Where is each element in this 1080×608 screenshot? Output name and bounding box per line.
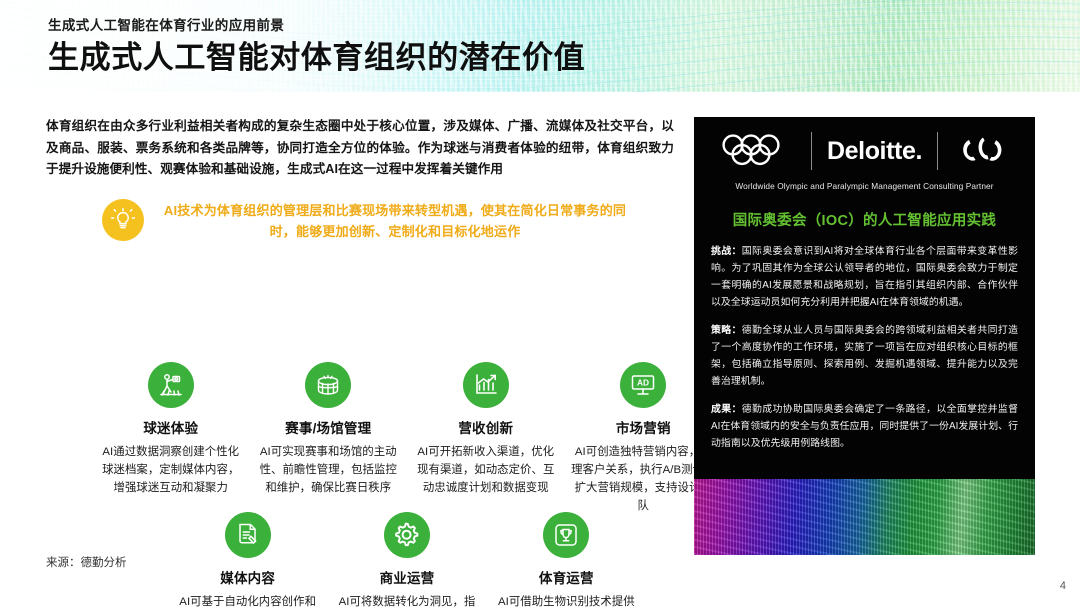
olympic-rings-icon [718, 134, 796, 168]
partner-logo-row: Deloitte. [694, 117, 1035, 169]
card-title: 市场营销 [616, 417, 671, 437]
left-content-column: 体育组织在由众多行业利益相关者构成的复杂生态圈中处于核心位置，涉及媒体、广播、流… [46, 116, 674, 245]
eyebrow-label: 生成式人工智能在体育行业的应用前景 [48, 14, 585, 34]
header-banner: 生成式人工智能在体育行业的应用前景 生成式人工智能对体育组织的潜在价值 [0, 0, 1080, 92]
paragraph-label: 挑战： [711, 246, 742, 257]
paragraph-text: 德勤全球从业人员与国际奥委会的跨领域利益相关者共同打造了一个高度协作的工作环境，… [711, 325, 1018, 387]
card-venue-management[interactable]: 赛事/场馆管理 AI可实现赛事和场馆的主动性、前瞻性管理，包括监控和维护，确保比… [250, 362, 408, 515]
stadium-icon [305, 362, 351, 408]
page-number: 4 [1060, 580, 1066, 592]
panel-paragraph-challenge: 挑战：国际奥委会意识到AI将对全球体育行业各个层面带来变革性影响。为了巩固其作为… [711, 243, 1018, 311]
trophy-icon [543, 512, 589, 558]
logo-divider-left [811, 132, 812, 170]
panel-paragraph-strategy: 策略：德勤全球从业人员与国际奥委会的跨领域利益相关者共同打造了一个高度协作的工作… [711, 322, 1018, 390]
case-study-panel: Deloitte. Worldwide Olympic and Paralymp… [694, 117, 1035, 555]
card-revenue-innovation[interactable]: 营收创新 AI可开拓新收入渠道，优化现有渠道，如动态定价、互动忠诚度计划和数据变… [407, 362, 565, 515]
intro-paragraph: 体育组织在由众多行业利益相关者构成的复杂生态圈中处于核心位置，涉及媒体、广播、流… [46, 116, 674, 181]
card-media-content[interactable]: 媒体内容 AI可基于自动化内容创作和编辑，实时数据分析和自然语言处理技术，加速内… [168, 512, 327, 608]
paragraph-label: 策略： [711, 325, 742, 336]
card-body: AI通过数据洞察创建个性化球迷档案，定制媒体内容，增强球迷互动和凝聚力 [98, 443, 244, 497]
panel-strip-texture [694, 479, 1035, 555]
revenue-chart-icon [463, 362, 509, 408]
ad-billboard-icon: AD [620, 362, 666, 408]
card-body: AI可基于自动化内容创作和编辑，实时数据分析和自然语言处理技术，加速内容传播 [174, 593, 321, 608]
card-title: 球迷体验 [143, 417, 198, 437]
card-title: 营收创新 [458, 417, 513, 437]
card-title: 媒体内容 [220, 567, 275, 587]
card-body: AI可实现赛事和场馆的主动性、前瞻性管理，包括监控和维护，确保比赛日秩序 [256, 443, 402, 497]
panel-gradient-strip [694, 479, 1035, 555]
source-note: 来源：德勤分析 [46, 554, 127, 570]
callout-box: AI技术为体育组织的管理层和比赛现场带来转型机遇，使其在简化日常事务的同时，能够… [46, 197, 674, 245]
card-title: 体育运营 [539, 567, 594, 587]
media-document-icon [225, 512, 271, 558]
paragraph-text: 国际奥委会意识到AI将对全球体育行业各个层面带来变革性影响。为了巩固其作为全球公… [711, 246, 1018, 308]
card-fan-experience[interactable]: 球迷体验 AI通过数据洞察创建个性化球迷档案，定制媒体内容，增强球迷互动和凝聚力 [92, 362, 250, 515]
banner-text-block: 生成式人工智能在体育行业的应用前景 生成式人工智能对体育组织的潜在价值 [48, 14, 585, 74]
card-body: AI可将数据转化为洞见，指导财务和运营管理，如监测赛事操纵行为，提升公正性 [333, 593, 480, 608]
fan-experience-icon [148, 362, 194, 408]
page-title: 生成式人工智能对体育组织的潜在价值 [48, 41, 585, 74]
capability-cards-row-1: 球迷体验 AI通过数据洞察创建个性化球迷档案，定制媒体内容，增强球迷互动和凝聚力 [92, 362, 722, 515]
card-title: 商业运营 [380, 567, 435, 587]
paralympic-agitos-icon [953, 135, 1011, 167]
slide: 生成式人工智能在体育行业的应用前景 生成式人工智能对体育组织的潜在价值 体育组织… [0, 0, 1080, 608]
panel-body: 挑战：国际奥委会意识到AI将对全球体育行业各个层面带来变革性影响。为了巩固其作为… [694, 243, 1035, 452]
card-business-operations[interactable]: 商业运营 AI可将数据转化为洞见，指导财务和运营管理，如监测赛事操纵行为，提升公… [327, 512, 486, 608]
deloitte-wordmark: Deloitte. [827, 139, 922, 164]
partner-tagline: Worldwide Olympic and Paralympic Managem… [694, 181, 1035, 191]
paragraph-label: 成果： [711, 404, 742, 415]
card-body: AI可借助生物识别技术提供定制化训练、康复计划和教学视频，辅助教练、招募和球探工… [493, 593, 640, 608]
panel-heading: 国际奥委会（IOC）的人工智能应用实践 [694, 209, 1035, 230]
logo-divider-right [937, 132, 938, 170]
paragraph-text: 德勤成功协助国际奥委会确定了一条路径，以全面掌控并监督AI在体育领域内的安全与负… [711, 404, 1018, 449]
svg-text:AD: AD [637, 377, 649, 387]
card-sports-operations[interactable]: 体育运营 AI可借助生物识别技术提供定制化训练、康复计划和教学视频，辅助教练、招… [487, 512, 646, 608]
panel-paragraph-outcome: 成果：德勤成功协助国际奥委会确定了一条路径，以全面掌控并监督AI在体育领域内的安… [711, 401, 1018, 452]
card-body: AI可开拓新收入渠道，优化现有渠道，如动态定价、互动忠诚度计划和数据变现 [413, 443, 559, 497]
lightbulb-icon [102, 199, 144, 241]
capability-cards-row-2: 媒体内容 AI可基于自动化内容创作和编辑，实时数据分析和自然语言处理技术，加速内… [168, 512, 646, 608]
gear-icon [384, 512, 430, 558]
card-title: 赛事/场馆管理 [285, 417, 371, 437]
callout-text: AI技术为体育组织的管理层和比赛现场带来转型机遇，使其在简化日常事务的同时，能够… [160, 200, 630, 242]
